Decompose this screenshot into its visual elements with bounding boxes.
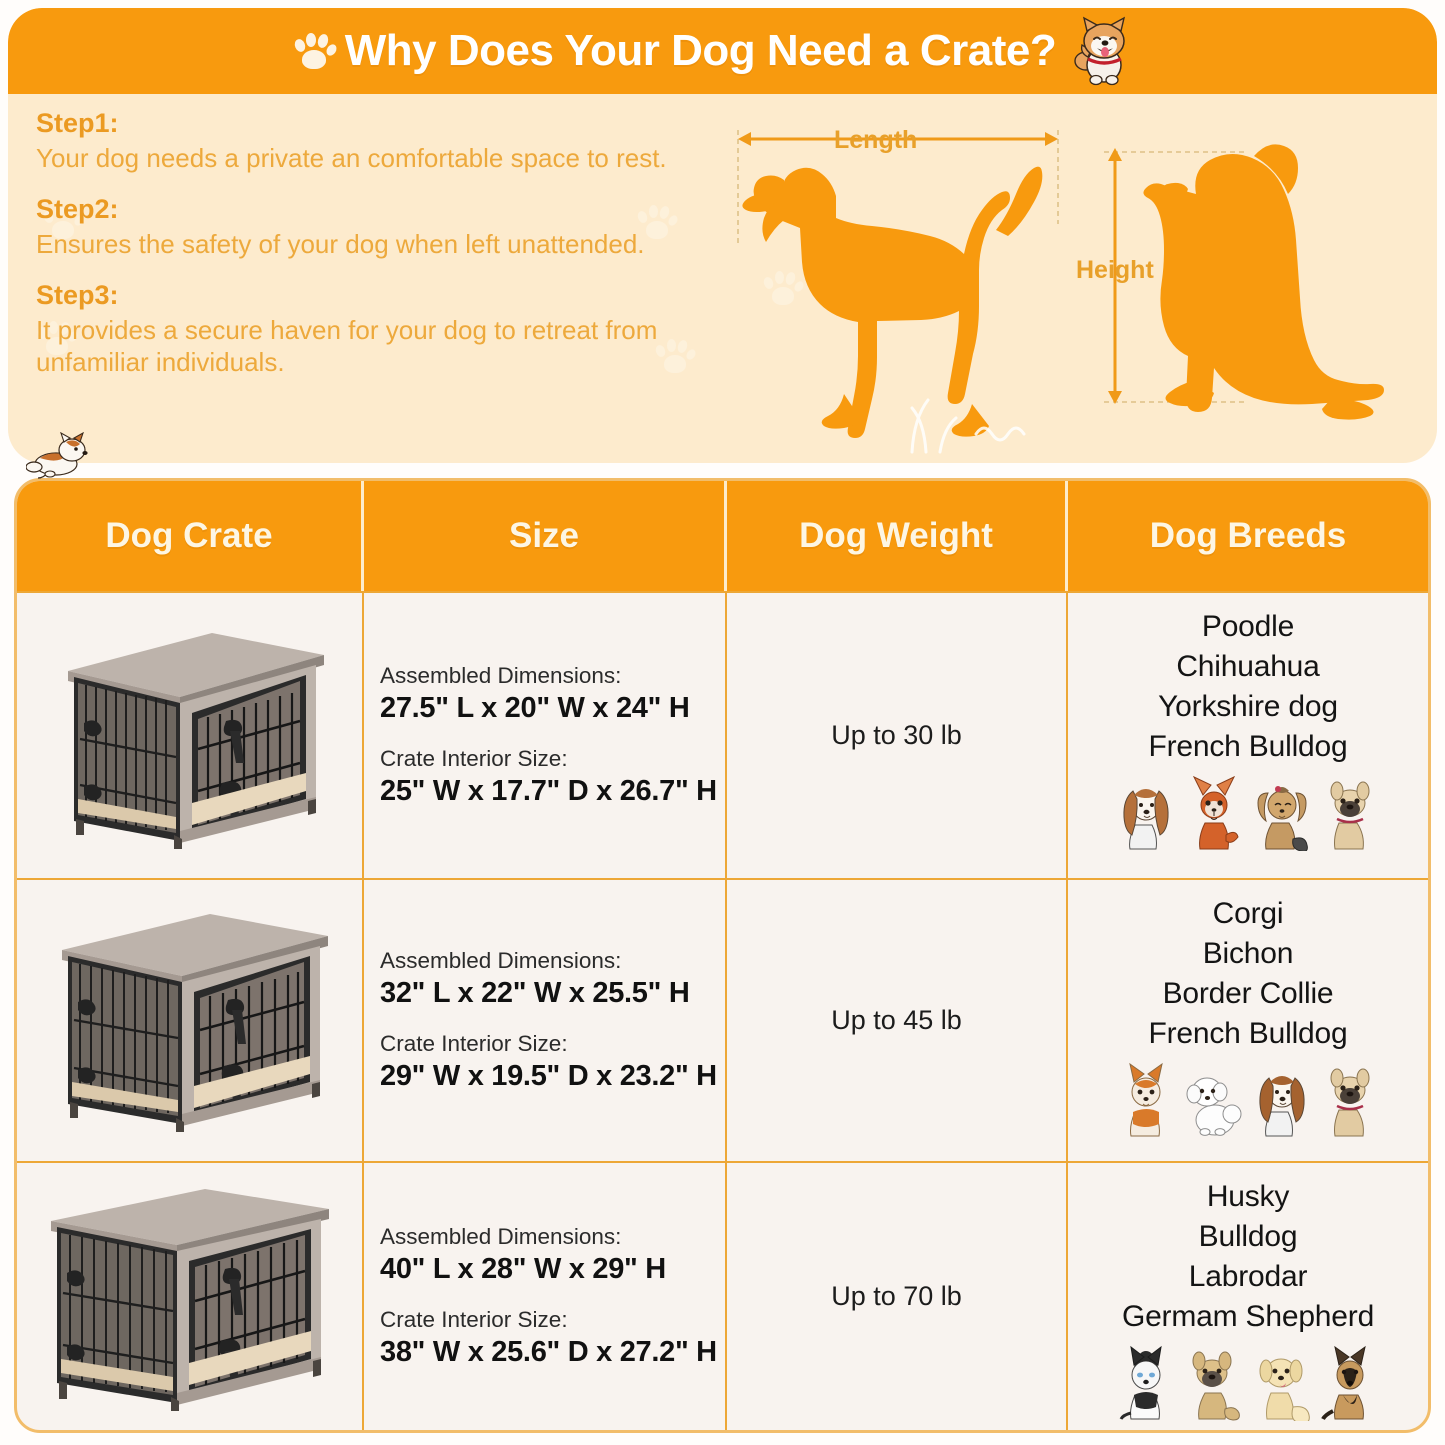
breed-name: Husky <box>1207 1177 1289 1217</box>
weight-value: Up to 30 lb <box>831 720 962 751</box>
breed-icon-row <box>1117 1062 1379 1138</box>
weight-cell: Up to 45 lb <box>727 880 1068 1161</box>
size-cell: Assembled Dimensions: 27.5" L x 20" W x … <box>364 593 727 878</box>
table-row: Assembled Dimensions: 27.5" L x 20" W x … <box>17 591 1428 878</box>
french-bulldog-icon <box>1321 1062 1379 1138</box>
breed-name: Bulldog <box>1199 1217 1298 1257</box>
breed-name: Corgi <box>1213 894 1284 934</box>
step-label: Step3: <box>36 280 726 311</box>
step-label: Step2: <box>36 194 726 225</box>
intro-panel: Why Does Your Dog Need a Crate? <box>8 8 1437 463</box>
interior-size-caption: Crate Interior Size: <box>380 1306 725 1334</box>
step-text: Your dog needs a private an comfortable … <box>36 143 726 174</box>
weight-cell: Up to 70 lb <box>727 1163 1068 1430</box>
breed-icon-row <box>1117 775 1379 851</box>
standing-dog-silhouette <box>742 167 1042 438</box>
breed-name: Yorkshire dog <box>1158 687 1338 727</box>
height-label: Height <box>1076 256 1154 285</box>
weight-value: Up to 45 lb <box>831 1005 962 1036</box>
interior-size-value: 38" W x 25.6" D x 27.2" H <box>380 1334 725 1370</box>
panel-header: Why Does Your Dog Need a Crate? <box>8 8 1437 94</box>
interior-size-caption: Crate Interior Size: <box>380 745 725 773</box>
assembled-dimensions-value: 27.5" L x 20" W x 24" H <box>380 690 725 726</box>
infographic-page: Why Does Your Dog Need a Crate? <box>0 0 1445 1445</box>
length-label: Length <box>834 126 917 155</box>
dog-crate-small-image <box>40 613 340 858</box>
weight-value: Up to 70 lb <box>831 1281 962 1312</box>
breed-icon-row <box>1117 1345 1379 1421</box>
breeds-cell: Poodle Chihuahua Yorkshire dog French Bu… <box>1068 593 1428 878</box>
german-shepherd-icon <box>1321 1345 1379 1421</box>
step-text: Ensures the safety of your dog when left… <box>36 229 726 260</box>
interior-size-value: 25" W x 17.7" D x 26.7" H <box>380 773 725 809</box>
page-title: Why Does Your Dog Need a Crate? <box>345 26 1056 76</box>
breed-name: Chihuahua <box>1176 647 1319 687</box>
crate-size-table: Dog Crate Size Dog Weight Dog Breeds <box>14 478 1431 1433</box>
chihuahua-icon <box>1185 775 1243 851</box>
cavalier-spaniel-icon <box>1117 775 1175 851</box>
breeds-cell: Husky Bulldog Labrodar Germam Shepherd <box>1068 1163 1428 1430</box>
breeds-cell: Corgi Bichon Border Collie French Bulldo… <box>1068 880 1428 1161</box>
dog-crate-medium-image <box>32 898 348 1143</box>
dog-crate-large-image <box>25 1179 355 1414</box>
steps-list: Step1: Your dog needs a private an comfo… <box>36 108 726 378</box>
yorkshire-terrier-icon <box>1253 775 1311 851</box>
crate-image-cell <box>17 1163 364 1430</box>
paw-icon <box>293 31 335 71</box>
bulldog-icon <box>1185 1345 1243 1421</box>
table-row: Assembled Dimensions: 40" L x 28" W x 29… <box>17 1161 1428 1430</box>
shiba-inu-icon <box>1066 15 1140 87</box>
bichon-icon <box>1185 1062 1243 1138</box>
column-header-size: Size <box>364 481 727 591</box>
size-cell: Assembled Dimensions: 40" L x 28" W x 29… <box>364 1163 727 1430</box>
column-header-dog-weight: Dog Weight <box>727 481 1068 591</box>
step-label: Step1: <box>36 108 726 139</box>
crate-image-cell <box>17 593 364 878</box>
crate-image-cell <box>17 880 364 1161</box>
assembled-dimensions-value: 32" L x 22" W x 25.5" H <box>380 975 725 1011</box>
assembled-dimensions-value: 40" L x 28" W x 29" H <box>380 1251 725 1287</box>
weight-cell: Up to 30 lb <box>727 593 1068 878</box>
interior-size-caption: Crate Interior Size: <box>380 1030 725 1058</box>
assembled-dimensions-caption: Assembled Dimensions: <box>380 662 725 690</box>
breed-name: Germam Shepherd <box>1122 1297 1374 1337</box>
breed-name: Border Collie <box>1163 974 1334 1014</box>
breed-name: French Bulldog <box>1149 1014 1348 1054</box>
table-row: Assembled Dimensions: 32" L x 22" W x 25… <box>17 878 1428 1161</box>
corgi-dog-icon <box>26 432 92 480</box>
breed-name: Bichon <box>1203 934 1294 974</box>
corgi-icon <box>1117 1062 1175 1138</box>
sitting-dog-silhouette <box>1143 144 1384 419</box>
interior-size-value: 29" W x 19.5" D x 23.2" H <box>380 1058 725 1094</box>
table-header-row: Dog Crate Size Dog Weight Dog Breeds <box>17 481 1428 591</box>
french-bulldog-icon <box>1321 775 1379 851</box>
breed-name: Labrodar <box>1189 1257 1308 1297</box>
column-header-dog-breeds: Dog Breeds <box>1068 481 1428 591</box>
labrador-icon <box>1253 1345 1311 1421</box>
column-header-dog-crate: Dog Crate <box>17 481 364 591</box>
dog-measurement-diagram: Length Height <box>726 104 1426 454</box>
size-cell: Assembled Dimensions: 32" L x 22" W x 25… <box>364 880 727 1161</box>
husky-icon <box>1117 1345 1175 1421</box>
breed-name: Poodle <box>1202 607 1294 647</box>
step-text: It provides a secure haven for your dog … <box>36 315 726 377</box>
border-collie-icon <box>1253 1062 1311 1138</box>
breed-name: French Bulldog <box>1149 727 1348 767</box>
assembled-dimensions-caption: Assembled Dimensions: <box>380 947 725 975</box>
assembled-dimensions-caption: Assembled Dimensions: <box>380 1223 725 1251</box>
